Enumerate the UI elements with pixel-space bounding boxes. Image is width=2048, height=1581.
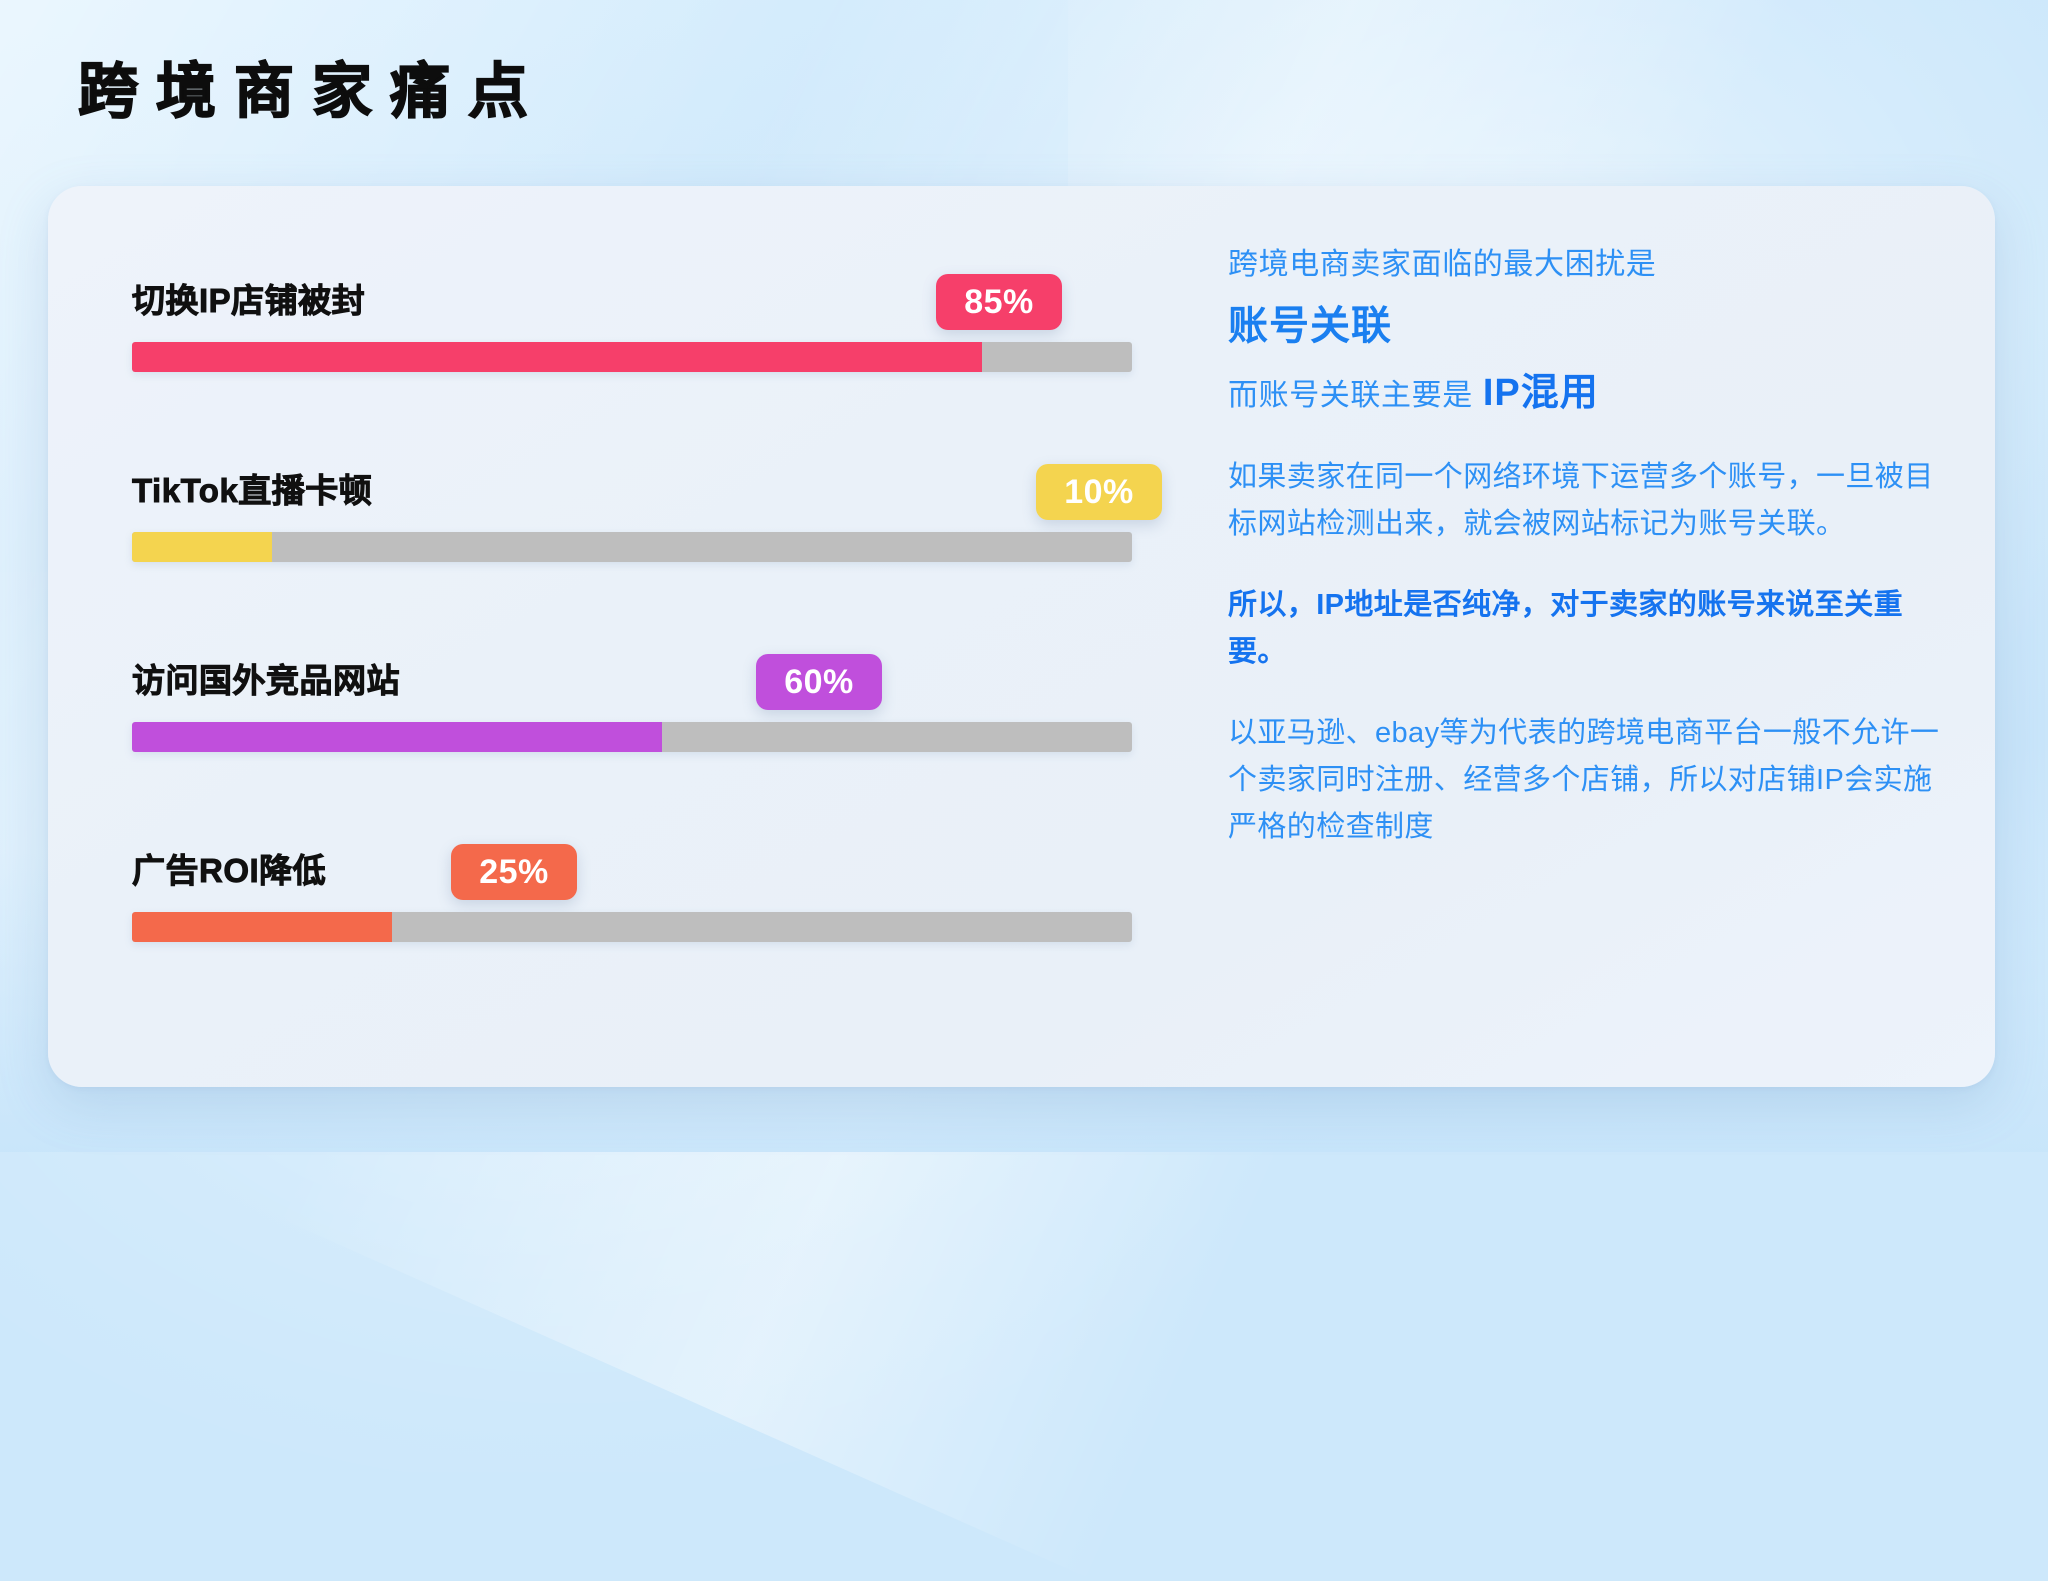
bar-track bbox=[132, 342, 1132, 372]
bar-category-label: 访问国外竞品网站 bbox=[132, 654, 400, 702]
chart-bar-row: 访问国外竞品网站 60% bbox=[96, 626, 1166, 786]
highlight-heading: 账号关联 bbox=[1228, 301, 1958, 351]
bar-category-label: TikTok直播卡顿 bbox=[132, 464, 372, 512]
bar-header: 访问国外竞品网站 60% bbox=[96, 626, 1166, 712]
secondary-line-highlight: IP混用 bbox=[1483, 367, 1599, 420]
explanation-panel: 跨境电商卖家面临的最大困扰是 账号关联 而账号关联主要是 IP混用 如果卖家在同… bbox=[1228, 242, 1958, 851]
paragraph-one: 如果卖家在同一个网络环境下运营多个账号，一旦被目标网站检测出来，就会被网站标记为… bbox=[1228, 454, 1958, 548]
bar-value-badge: 25% bbox=[451, 844, 577, 900]
bar-value-badge: 85% bbox=[936, 274, 1062, 330]
secondary-line-prefix: 而账号关联主要是 bbox=[1228, 375, 1473, 417]
bar-header: 广告ROI降低 25% bbox=[96, 816, 1166, 902]
paragraph-two: 所以，IP地址是否纯净，对于卖家的账号来说至关重要。 bbox=[1228, 582, 1958, 676]
bar-fill bbox=[132, 722, 662, 752]
bar-track bbox=[132, 722, 1132, 752]
bar-category-label: 切换IP店铺被封 bbox=[132, 274, 365, 322]
bar-fill bbox=[132, 532, 272, 562]
chart-bar-row: 切换IP店铺被封 85% bbox=[96, 246, 1166, 406]
bar-category-label: 广告ROI降低 bbox=[132, 844, 326, 892]
secondary-line: 而账号关联主要是 IP混用 bbox=[1228, 367, 1958, 420]
paragraph-three: 以亚马逊、ebay等为代表的跨境电商平台一般不允许一个卖家同时注册、经营多个店铺… bbox=[1228, 710, 1958, 851]
pain-point-bar-chart: 切换IP店铺被封 85% TikTok直播卡顿 10% 访问国外竞品网站 60% bbox=[96, 246, 1166, 1036]
chart-bar-row: TikTok直播卡顿 10% bbox=[96, 436, 1166, 596]
page-title: 跨境商家痛点 bbox=[78, 62, 546, 122]
lead-text: 跨境电商卖家面临的最大困扰是 bbox=[1228, 242, 1958, 287]
bar-fill bbox=[132, 342, 982, 372]
bar-track bbox=[132, 532, 1132, 562]
chart-bar-row: 广告ROI降低 25% bbox=[96, 816, 1166, 976]
bar-header: TikTok直播卡顿 10% bbox=[96, 436, 1166, 522]
bar-value-badge: 10% bbox=[1036, 464, 1162, 520]
bar-header: 切换IP店铺被封 85% bbox=[96, 246, 1166, 332]
bar-fill bbox=[132, 912, 392, 942]
content-card: 切换IP店铺被封 85% TikTok直播卡顿 10% 访问国外竞品网站 60% bbox=[48, 186, 1995, 1087]
bar-value-badge: 60% bbox=[756, 654, 882, 710]
bar-track bbox=[132, 912, 1132, 942]
